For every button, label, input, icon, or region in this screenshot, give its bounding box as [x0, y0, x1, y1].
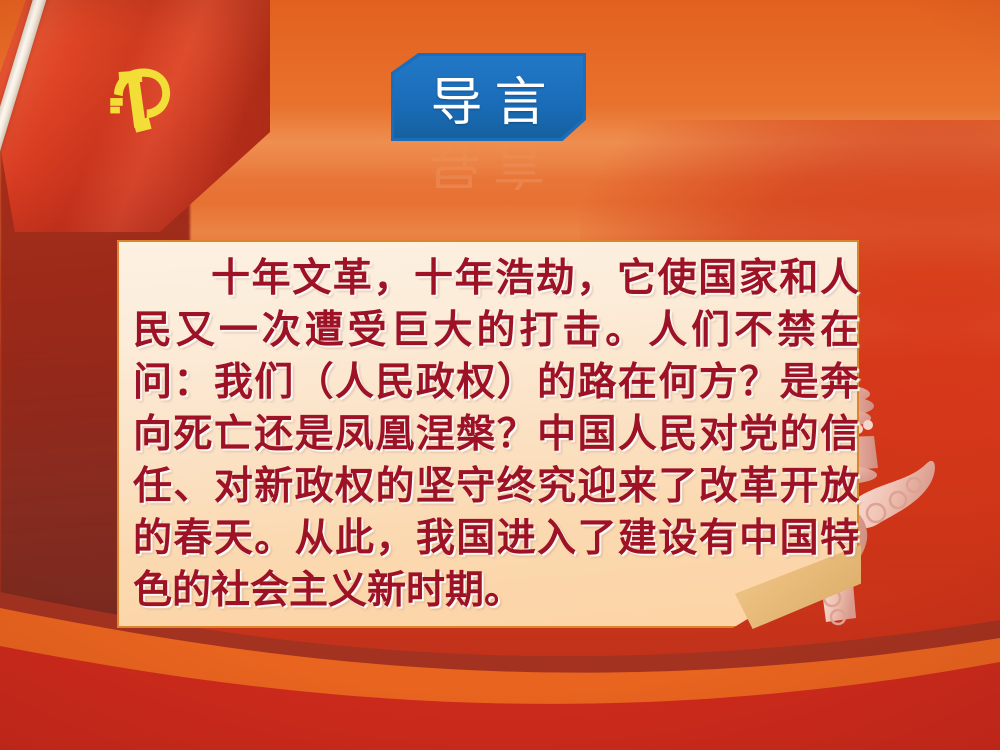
- body-paragraph: 十年文革，十年浩劫，它使国家和人民又一次遭受巨大的打击。人们不禁在问：我们（人民…: [133, 252, 859, 616]
- title-banner[interactable]: 导言: [391, 53, 586, 141]
- slide-canvas: 导言 导言 十年文革，十年浩劫，它使国家和人民又一次遭受巨大的打击。人们不禁在问…: [0, 0, 1000, 750]
- page-title: 导言: [391, 53, 586, 141]
